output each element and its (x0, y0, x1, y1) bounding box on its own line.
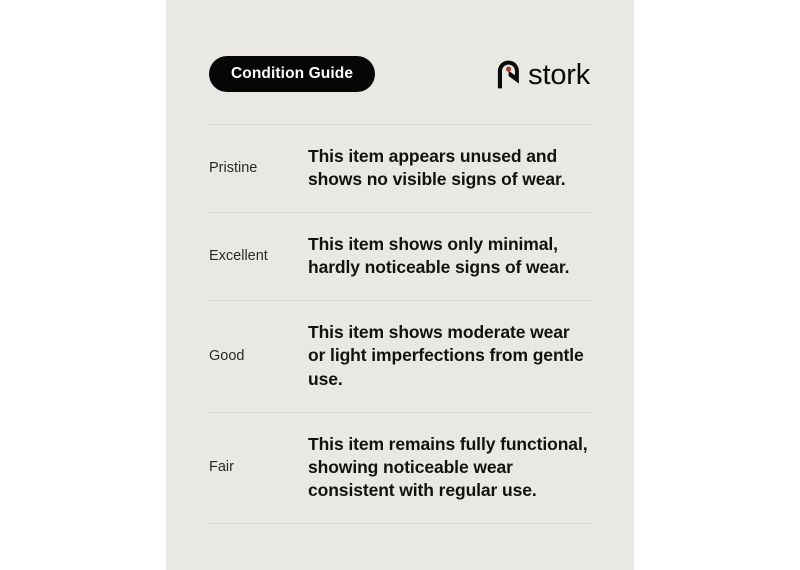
table-row: Excellent This item shows only minimal, … (209, 213, 591, 300)
condition-label: Good (209, 347, 308, 365)
row-divider (209, 523, 591, 524)
card-header: Condition Guide stork (209, 55, 591, 93)
condition-label: Excellent (209, 247, 308, 265)
stork-arch-logo-icon (496, 59, 521, 90)
condition-description: This item appears unused and shows no vi… (308, 145, 591, 191)
brand-wordmark: stork (528, 61, 590, 90)
condition-description: This item shows only minimal, hardly not… (308, 233, 591, 279)
condition-label: Pristine (209, 159, 308, 177)
table-row: Good This item shows moderate wear or li… (209, 301, 591, 411)
condition-label: Fair (209, 458, 308, 476)
screen-root: Condition Guide stork Pristine This item… (0, 0, 800, 570)
condition-guide-table: Pristine This item appears unused and sh… (209, 124, 591, 524)
condition-guide-card: Condition Guide stork Pristine This item… (166, 0, 634, 570)
brand-lockup: stork (496, 59, 590, 90)
condition-guide-title-pill: Condition Guide (209, 56, 375, 93)
table-row: Fair This item remains fully functional,… (209, 413, 591, 523)
condition-description: This item remains fully functional, show… (308, 433, 591, 502)
table-row: Pristine This item appears unused and sh… (209, 125, 591, 212)
condition-description: This item shows moderate wear or light i… (308, 321, 591, 390)
